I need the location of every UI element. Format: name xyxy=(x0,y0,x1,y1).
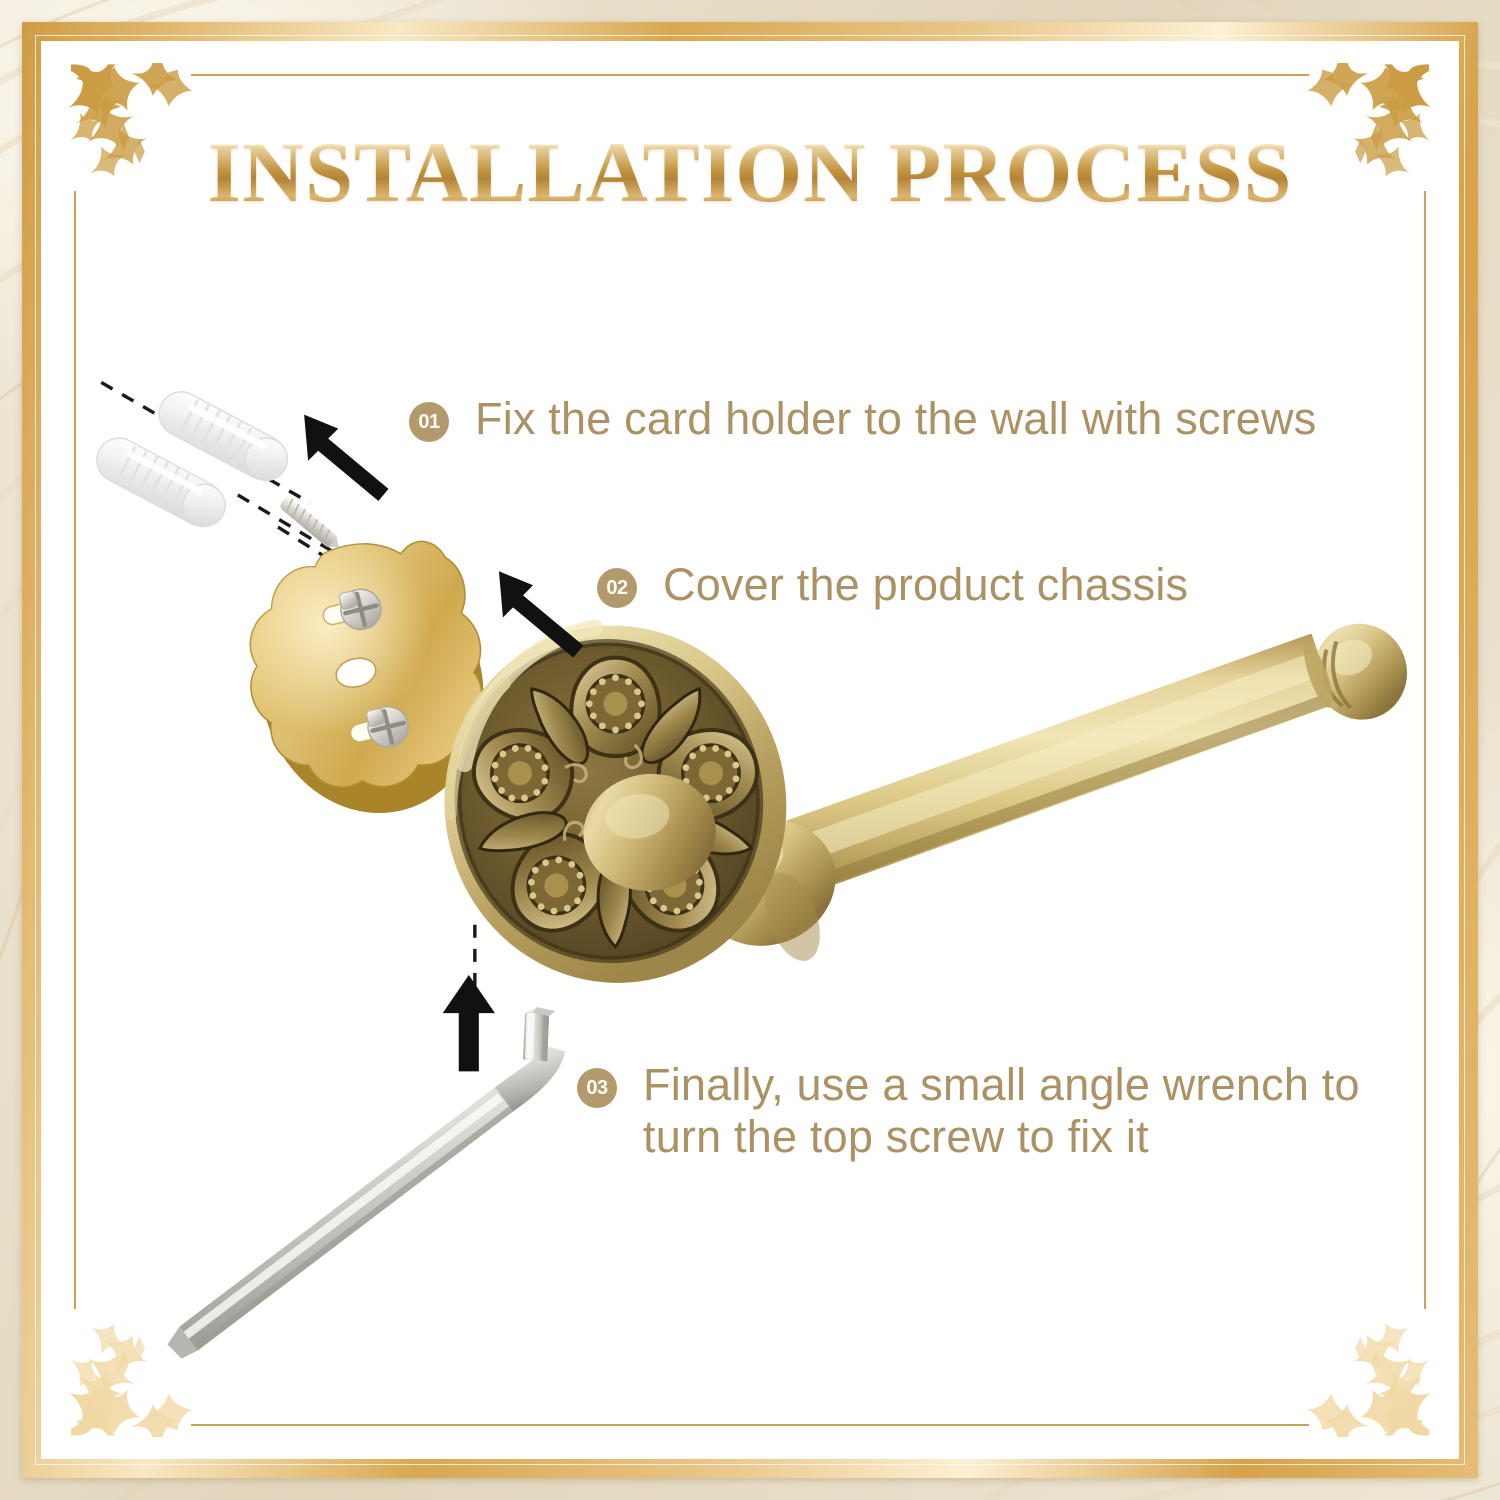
hex-wrench xyxy=(168,1007,566,1358)
holder-arm xyxy=(627,611,1421,969)
corner-ornament-bottom-right xyxy=(1305,1305,1437,1437)
decorative-frame: INSTALLATION PROCESS xyxy=(22,22,1478,1478)
rosette-petals xyxy=(462,658,768,949)
rosette-scrolls xyxy=(559,744,678,867)
step-text-03: Finally, use a small angle wrench to tur… xyxy=(643,1059,1360,1163)
step-row-02: 02 Cover the product chassis xyxy=(597,559,1188,611)
top-screw xyxy=(278,495,343,553)
corner-ornament-bottom-left xyxy=(63,1305,195,1437)
step-text-02: Cover the product chassis xyxy=(663,559,1188,611)
rosette-fronds xyxy=(474,679,755,947)
step-text-01: Fix the card holder to the wall with scr… xyxy=(475,393,1316,445)
product-exploded-diagram xyxy=(41,41,1459,1459)
plate-screw-lower xyxy=(346,702,412,755)
poster-root: INSTALLATION PROCESS xyxy=(0,0,1500,1500)
arrow-step-02 xyxy=(499,571,583,657)
step-row-01: 01 Fix the card holder to the wall with … xyxy=(409,393,1316,445)
guide-anchor-to-screw-upper xyxy=(101,382,310,503)
wall-anchor-lower xyxy=(89,430,233,535)
rule-bottom xyxy=(191,1424,1309,1426)
arrow-step-01 xyxy=(304,415,388,501)
wall-anchor-upper xyxy=(151,384,295,489)
arrows-group xyxy=(304,415,583,1072)
arm-elbow xyxy=(679,800,854,968)
rule-left xyxy=(74,191,76,1309)
step-badge-02: 02 xyxy=(597,568,637,608)
mounting-plate xyxy=(222,520,514,839)
arrow-step-03 xyxy=(443,975,495,1071)
plate-screw-upper xyxy=(319,585,385,638)
rule-top xyxy=(191,74,1309,76)
guide-anchor-line-mid xyxy=(238,495,373,575)
arm-finial xyxy=(1298,611,1420,733)
decorative-rosette xyxy=(421,603,809,1005)
guide-plate-to-rosette-upper xyxy=(304,595,495,705)
step-row-03: 03 Finally, use a small angle wrench to … xyxy=(577,1059,1360,1163)
rule-right xyxy=(1424,191,1426,1309)
page-title: INSTALLATION PROCESS xyxy=(41,129,1459,215)
step-badge-01: 01 xyxy=(409,402,449,442)
step-badge-03: 03 xyxy=(577,1068,617,1108)
guide-plate-to-rosette-lower xyxy=(342,674,513,762)
content-panel: INSTALLATION PROCESS xyxy=(41,41,1459,1459)
guide-anchor-to-screw-lower xyxy=(278,527,392,599)
